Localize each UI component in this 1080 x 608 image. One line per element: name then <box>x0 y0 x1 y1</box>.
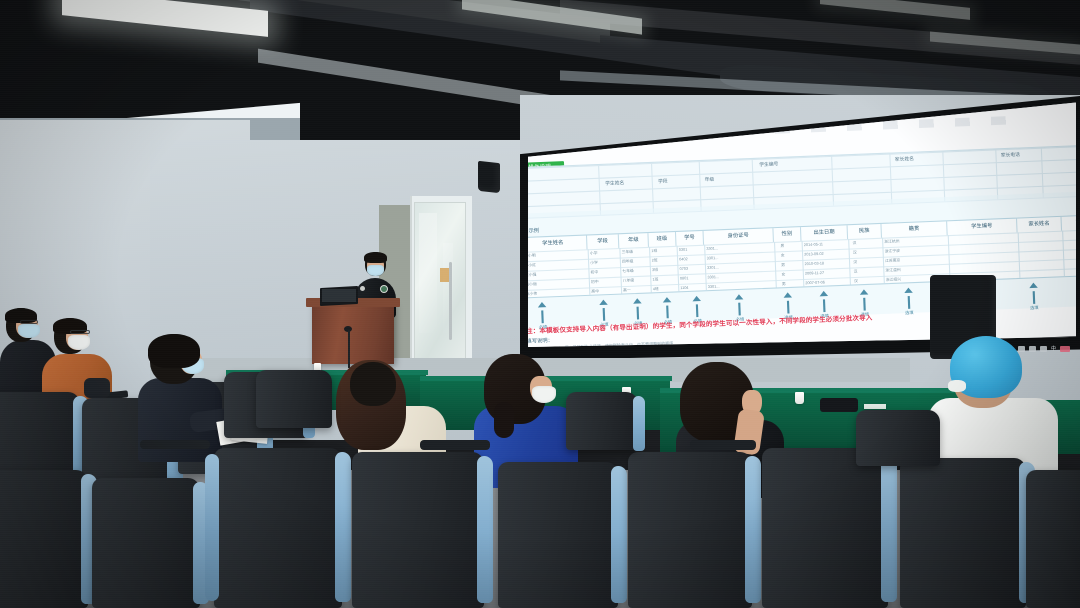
cell-r2c6: 3301... <box>707 256 719 261</box>
cell-r5c10: 浙江绍兴 <box>886 277 901 283</box>
cell-r2c9: 汉 <box>853 250 857 255</box>
cell-r1c9: 汉 <box>852 241 856 246</box>
seat-mid-3[interactable] <box>566 392 638 450</box>
upper-grid-header-11: 学生编号 <box>759 161 778 168</box>
upper-grid-header-3: 年级 <box>705 176 715 183</box>
armrest-1 <box>420 440 490 450</box>
paper-cup-4 <box>795 392 804 404</box>
table-paper <box>864 404 886 409</box>
audience-5-ponytail <box>494 402 514 438</box>
cell-r5c1: 陈小伟 <box>528 292 537 298</box>
th-student-name[interactable]: 学生姓名 <box>528 236 588 252</box>
cell-r2c2: 小学 <box>590 261 598 267</box>
audience-2-face-mask <box>68 335 90 350</box>
cell-r4c4: 1班 <box>652 277 658 283</box>
upper-grid-header-2: 学段 <box>658 178 668 185</box>
upper-grid-header-1: 学生姓名 <box>605 180 624 187</box>
seat-r2-1[interactable] <box>0 470 88 608</box>
cell-r4c8: 2009-11-27 <box>805 271 824 276</box>
cell-r3c7: 男 <box>781 263 785 268</box>
cell-r3c3: 七年级 <box>622 269 634 275</box>
cell-r5c2: 高中 <box>591 289 599 295</box>
armrest-2 <box>690 440 756 450</box>
seat-r2-7[interactable] <box>762 448 888 608</box>
cell-r5c9: 汉 <box>854 279 858 284</box>
audience-7-mask-strap <box>948 380 966 392</box>
th-hometown[interactable]: 籍贯 <box>881 221 947 237</box>
cell-r5c3: 高一 <box>623 288 631 294</box>
th-ethnicity[interactable]: 民族 <box>848 224 882 239</box>
cell-r1c10: 浙江杭州 <box>884 239 899 245</box>
th-gender[interactable]: 性别 <box>773 227 801 242</box>
cell-r1c5: 0301 <box>679 247 688 252</box>
cell-r4c7: 女 <box>782 272 786 277</box>
cell-r2c5: 0402 <box>679 257 688 262</box>
cell-r1c7: 男 <box>780 244 784 249</box>
cell-r4c2: 初中 <box>591 280 599 286</box>
cell-r5c6: 3301... <box>708 284 720 289</box>
cell-r3c8: 2010-03-18 <box>804 261 824 266</box>
fill-instructions-title: 填写说明： <box>528 337 553 345</box>
th-birthdate[interactable]: 出生日期 <box>801 225 848 241</box>
cell-r3c6: 3301... <box>707 265 719 270</box>
cell-r1c8: 2014-05-11 <box>804 242 823 247</box>
th-grade[interactable]: 年级 <box>619 233 649 248</box>
cell-r1c2: 小学 <box>590 251 598 257</box>
cell-r2c4: 2班 <box>652 258 658 264</box>
ime-badge-icon[interactable] <box>1060 346 1070 352</box>
seat-r2-6[interactable] <box>628 452 752 608</box>
audience-4-head <box>350 362 396 406</box>
wall-speaker-left <box>478 161 500 193</box>
cell-r5c5: 1104 <box>680 286 688 291</box>
th-student-code[interactable]: 学生编号 <box>947 219 1017 236</box>
seat-mid-2[interactable] <box>256 370 332 428</box>
armrest-3 <box>140 440 210 449</box>
cell-r3c10: 江苏南京 <box>885 258 900 264</box>
seat-r2-2[interactable] <box>92 478 200 608</box>
th-student-no[interactable]: 学号 <box>676 231 704 246</box>
audience-1-face-mask <box>18 324 40 338</box>
seat-r2-4[interactable] <box>352 452 484 608</box>
laptop-screen <box>322 289 356 302</box>
seat-mid-4[interactable] <box>856 410 940 466</box>
cell-r3c2: 初中 <box>591 270 599 276</box>
th-stage[interactable]: 学段 <box>587 234 619 249</box>
cell-r4c6: 3301... <box>707 275 719 280</box>
cell-r1c4: 1班 <box>651 249 657 255</box>
cell-r1c1: 张小明 <box>528 253 536 259</box>
cell-r5c7: 男 <box>782 282 786 287</box>
seat-r2-9[interactable] <box>1026 470 1080 608</box>
cell-r4c10: 浙江温州 <box>885 268 900 274</box>
cell-r5c4: 4班 <box>653 287 659 293</box>
cell-r4c9: 汉 <box>854 269 858 274</box>
cell-r2c10: 浙江宁波 <box>885 249 900 255</box>
cell-r4c1: 赵小丽 <box>528 282 537 288</box>
th-parent-name[interactable]: 家长姓名 <box>1017 217 1062 233</box>
audience-2-hand-dark <box>84 378 110 398</box>
upper-grid-header-13: 家长电话 <box>1001 152 1020 159</box>
door-handle[interactable] <box>449 262 452 340</box>
seat-r2-5[interactable] <box>498 462 618 608</box>
table-caption: 填写示例 <box>528 227 539 235</box>
projection-screen-area: 批量导入 操作说明 <box>520 96 1080 360</box>
frosted-glass-door[interactable] <box>414 202 466 368</box>
th-id-card[interactable]: 身份证号 <box>704 228 774 245</box>
upper-grid-header-12: 家长姓名 <box>895 156 914 163</box>
th-class[interactable]: 班级 <box>648 232 676 247</box>
cell-r2c3: 四年级 <box>622 259 634 265</box>
cell-r3c4: 3班 <box>652 268 658 274</box>
cell-r5c8: 2007-07-06 <box>805 280 825 285</box>
cell-r3c5: 0703 <box>679 267 688 272</box>
conference-room-photo: 批量导入 操作说明 <box>0 0 1080 608</box>
seat-r2-8[interactable] <box>900 458 1026 608</box>
cell-r1c6: 3301... <box>706 246 718 251</box>
cell-r3c9: 汉 <box>853 260 857 265</box>
cell-r2c8: 2013-09-02 <box>804 252 824 257</box>
cell-r3c1: 王小强 <box>528 273 536 279</box>
cell-r4c5: 0801 <box>680 276 689 281</box>
presenter-face-mask <box>367 265 384 276</box>
th-parent-phone[interactable]: 家长电话 <box>1062 215 1076 231</box>
cell-r4c3: 八年级 <box>623 278 635 284</box>
podium <box>312 302 394 364</box>
audience-5-face-mask <box>532 386 556 403</box>
table-pouch <box>820 398 858 412</box>
seat-r2-3[interactable] <box>214 448 342 608</box>
cell-r2c1: 李小红 <box>528 263 536 269</box>
cell-r1c3: 三年级 <box>622 250 634 256</box>
cell-r2c7: 女 <box>781 253 785 258</box>
